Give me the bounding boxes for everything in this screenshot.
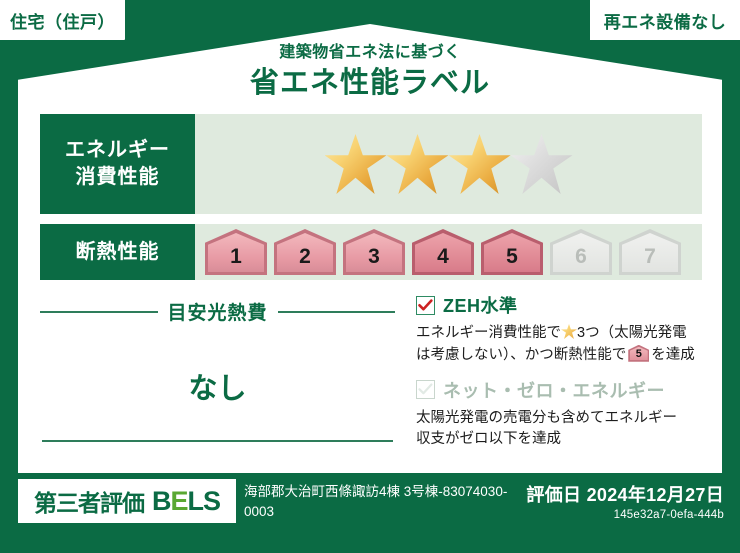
zeh-desc-star-count: 3つ（太陽光発電 [577,325,687,341]
zeh-standard-description: エネルギー消費性能で3つ（太陽光発電 は考慮しない）、かつ断熱性能で5を達成 [416,323,708,367]
star-empty-icon [511,134,573,194]
star-rating [195,114,702,214]
utility-cost-header: 目安光熱費 [40,292,395,325]
house-badge-number: 5 [628,345,649,362]
zeh-standard-item: ZEH水準 エネルギー消費性能で3つ（太陽光発電 は考慮しない）、かつ断熱性能で… [416,292,708,367]
insulation-performance-label: 断熱性能 [40,224,195,280]
insulation-level-number: 3 [368,246,380,275]
house-badge-icon: 5 [628,345,649,362]
zeh-netzero-desc-line1: 太陽光発電の売電分も含めてエネルギー [416,410,677,426]
header-title: 省エネ性能ラベル [0,59,740,101]
insulation-level-number: 5 [506,246,518,275]
zeh-netzero-item: ネット・ゼロ・エネルギー 太陽光発電の売電分も含めてエネルギー 収支がゼロ以下を… [416,377,708,452]
bels-letter-ls: LS [188,486,221,516]
footer-evaluation-id: 145e32a7-0efa-444b [526,509,724,521]
star-filled-icon [449,134,511,194]
insulation-level-3: 3 [343,229,405,275]
rule-right [278,311,396,313]
insulation-level-number: 1 [230,246,242,275]
insulation-level-2: 2 [274,229,336,275]
label-card-body: エネルギー 消費性能 断熱性能 1234567 目安光熱費 なし [18,102,722,473]
zeh-standard-title: ZEH水準 [443,292,518,318]
utility-cost-title: 目安光熱費 [168,298,268,325]
energy-performance-label: 住宅（住戸） 再エネ設備なし 建築物省エネ法に基づく 省エネ性能ラベル エネルギ… [0,0,740,553]
zeh-desc-part3: を達成 [651,347,695,363]
zeh-netzero-header: ネット・ゼロ・エネルギー [416,377,708,403]
bels-logo-english: BELS [152,486,220,517]
energy-performance-row: エネルギー 消費性能 [40,114,702,214]
utility-cost-value: なし [40,365,395,407]
star-icon [561,324,577,339]
zeh-desc-part2: は考慮しない）、かつ断熱性能で [416,347,626,363]
insulation-level-scale: 1234567 [195,224,702,280]
insulation-level-7: 7 [619,229,681,275]
checkbox-unchecked-icon [416,380,435,399]
zeh-netzero-title: ネット・ゼロ・エネルギー [443,377,665,403]
footer-address: 海部郡大治町西條諏訪4棟 3号棟-83074030-0003 [244,482,534,521]
zeh-criteria-panel: ZEH水準 エネルギー消費性能で3つ（太陽光発電 は考慮しない）、かつ断熱性能で… [416,292,708,455]
energy-label-line1: エネルギー [65,137,170,164]
rule-left [40,311,158,313]
insulation-level-number: 7 [644,246,656,275]
badge-building-type: 住宅（住戸） [0,0,125,40]
insulation-level-number: 6 [575,246,587,275]
insulation-label-text: 断熱性能 [76,239,160,266]
footer-evaluation-info: 評価日 2024年12月27日 145e32a7-0efa-444b [526,481,724,521]
insulation-level-number: 2 [299,246,311,275]
energy-label-line2: 消費性能 [76,164,160,191]
star-filled-icon [387,134,449,194]
zeh-standard-header: ZEH水準 [416,292,708,318]
insulation-level-5: 5 [481,229,543,275]
zeh-netzero-description: 太陽光発電の売電分も含めてエネルギー 収支がゼロ以下を達成 [416,408,708,452]
utility-cost-bottom-rule [42,440,393,442]
bels-letter-b: B [152,486,171,516]
label-footer: 第三者評価 BELS 海部郡大治町西條諏訪4棟 3号棟-83074030-000… [0,473,740,553]
bels-logo-japanese: 第三者評価 [34,484,144,518]
energy-performance-label: エネルギー 消費性能 [40,114,195,214]
bels-letter-e: E [170,486,187,516]
bels-logo: 第三者評価 BELS [18,479,236,523]
utility-cost-panel: 目安光熱費 なし [40,292,395,473]
insulation-level-number: 4 [437,246,449,275]
star-filled-icon [325,134,387,194]
footer-evaluation-date: 評価日 2024年12月27日 [526,481,724,507]
lower-section: 目安光熱費 なし ZEH水準 [18,292,722,473]
zeh-desc-part1: エネルギー消費性能で [416,325,561,341]
insulation-level-1: 1 [205,229,267,275]
insulation-level-6: 6 [550,229,612,275]
badge-renewable-energy: 再エネ設備なし [590,0,740,40]
zeh-netzero-desc-line2: 収支がゼロ以下を達成 [416,431,561,447]
insulation-performance-row: 断熱性能 1234567 [40,224,702,280]
checkbox-checked-icon [416,296,435,315]
insulation-level-4: 4 [412,229,474,275]
